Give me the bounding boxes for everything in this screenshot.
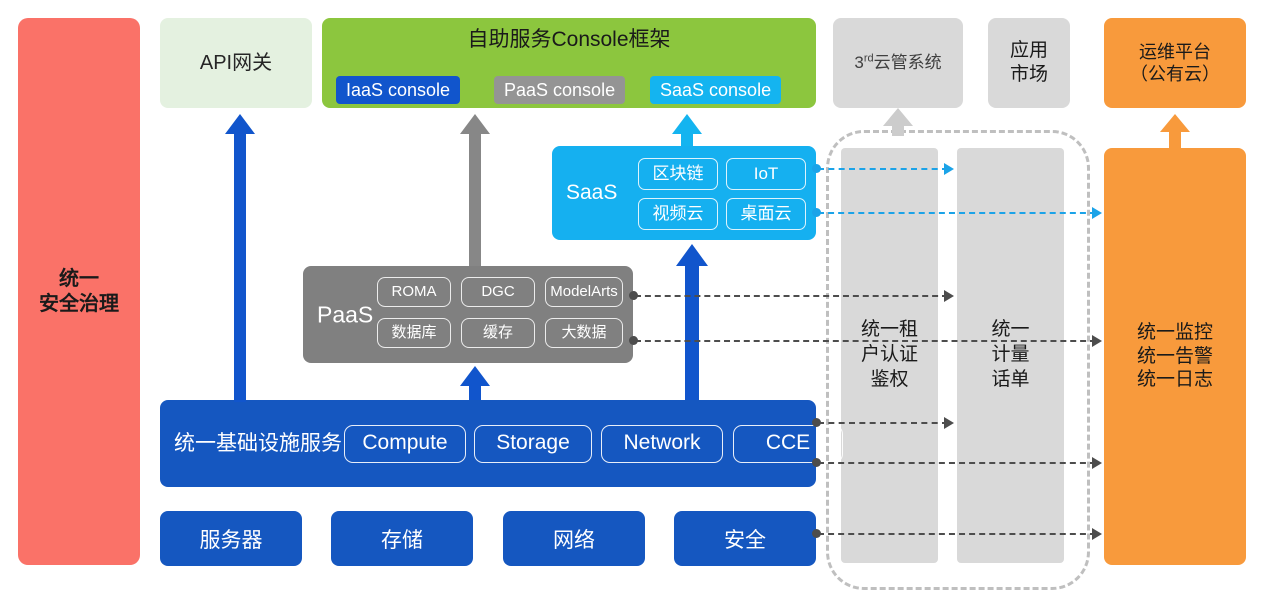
architecture-diagram: 统一 安全治理 API网关 自助服务Console框架 IaaS console… <box>0 0 1265 605</box>
arrow-paas-to-console <box>459 114 491 266</box>
panel-security-label: 统一 安全治理 <box>39 267 119 317</box>
console-framework-title: 自助服务Console框架 <box>322 27 816 53</box>
connector-arrowhead-infra-auth <box>944 417 954 429</box>
connector-paas-to-auth <box>635 295 948 297</box>
chip-saas-video-cloud[interactable]: 视频云 <box>638 198 718 230</box>
panel-paas: PaaS ROMA DGC ModelArts 数据库 缓存 大数据 <box>303 266 633 363</box>
chip-saas-console[interactable]: SaaS console <box>650 76 781 104</box>
box-hardware-storage[interactable]: 存储 <box>331 511 473 566</box>
panel-self-service-console-framework: 自助服务Console框架 IaaS console PaaS console … <box>322 18 816 108</box>
chip-paas-bigdata[interactable]: 大数据 <box>545 318 623 348</box>
chip-paas-dgc[interactable]: DGC <box>461 277 535 307</box>
panel-api-gateway: API网关 <box>160 18 312 108</box>
chip-saas-iot[interactable]: IoT <box>726 158 806 190</box>
chip-paas-console[interactable]: PaaS console <box>494 76 625 104</box>
chip-paas-database[interactable]: 数据库 <box>377 318 451 348</box>
panel-ops-platform-public-cloud: 运维平台 （公有云） <box>1104 18 1246 108</box>
panel-application-market-label: 应用 市场 <box>1010 39 1048 87</box>
connector-arrowhead-paas-ops <box>1092 335 1102 347</box>
connector-infra-to-auth <box>818 422 948 424</box>
chip-paas-roma[interactable]: ROMA <box>377 277 451 307</box>
box-hardware-network[interactable]: 网络 <box>503 511 645 566</box>
panel-paas-label: PaaS <box>317 300 373 329</box>
connector-saas-to-ops <box>818 212 1096 214</box>
chip-infra-network[interactable]: Network <box>601 425 723 463</box>
panel-saas: SaaS 区块链 IoT 视频云 桌面云 <box>552 146 816 240</box>
connector-hardware-to-ops <box>818 533 1096 535</box>
panel-unified-monitoring-alarm-log: 统一监控 统一告警 统一日志 <box>1104 148 1246 565</box>
panel-unified-infrastructure-service: 统一基础设施服务 Compute Storage Network CCE <box>160 400 816 487</box>
chip-infra-compute[interactable]: Compute <box>344 425 466 463</box>
arrow-shared-to-third-party <box>882 108 914 136</box>
panel-api-gateway-label: API网关 <box>200 51 272 76</box>
arrow-infra-to-saas <box>675 244 709 400</box>
connector-arrowhead-paas-auth <box>944 290 954 302</box>
arrow-monitoring-to-ops-platform <box>1159 114 1191 148</box>
panel-third-party-cloud-management: 3rd云管系统 <box>833 18 963 108</box>
chip-paas-cache[interactable]: 缓存 <box>461 318 535 348</box>
connector-saas-to-auth <box>818 168 948 170</box>
chip-infra-cce[interactable]: CCE <box>733 425 843 463</box>
connector-arrowhead-hardware-ops <box>1092 528 1102 540</box>
box-hardware-server[interactable]: 服务器 <box>160 511 302 566</box>
third-party-superscript: rd <box>864 53 874 65</box>
column-unified-tenant-auth: 统一租 户认证 鉴权 <box>841 148 938 563</box>
panel-infrastructure-label: 统一基础设施服务 <box>174 430 342 456</box>
chip-saas-blockchain[interactable]: 区块链 <box>638 158 718 190</box>
column-auth-label: 统一租 户认证 鉴权 <box>861 318 918 392</box>
panel-unified-security-governance: 统一 安全治理 <box>18 18 140 565</box>
panel-ops-platform-label: 运维平台 （公有云） <box>1130 41 1220 86</box>
column-metering-label: 统一 计量 话单 <box>991 318 1029 392</box>
connector-arrowhead-infra-ops <box>1092 457 1102 469</box>
box-hardware-security[interactable]: 安全 <box>674 511 816 566</box>
column-unified-metering-billing: 统一 计量 话单 <box>957 148 1064 563</box>
chip-paas-modelarts[interactable]: ModelArts <box>545 277 623 307</box>
connector-infra-to-ops <box>818 462 1096 464</box>
panel-saas-label: SaaS <box>566 180 617 206</box>
panel-monitoring-label: 统一监控 统一告警 统一日志 <box>1137 321 1213 392</box>
arrow-infra-to-paas <box>459 366 491 400</box>
arrow-infra-to-api-gateway <box>224 114 256 402</box>
connector-arrowhead-saas-auth <box>944 163 954 175</box>
panel-application-market: 应用 市场 <box>988 18 1070 108</box>
panel-third-party-label: 3rd云管系统 <box>854 52 941 73</box>
connector-paas-to-ops <box>635 340 1096 342</box>
chip-iaas-console[interactable]: IaaS console <box>336 76 460 104</box>
chip-infra-storage[interactable]: Storage <box>474 425 592 463</box>
arrow-saas-to-saas-console <box>671 114 703 146</box>
connector-arrowhead-saas-ops <box>1092 207 1102 219</box>
chip-saas-desktop-cloud[interactable]: 桌面云 <box>726 198 806 230</box>
